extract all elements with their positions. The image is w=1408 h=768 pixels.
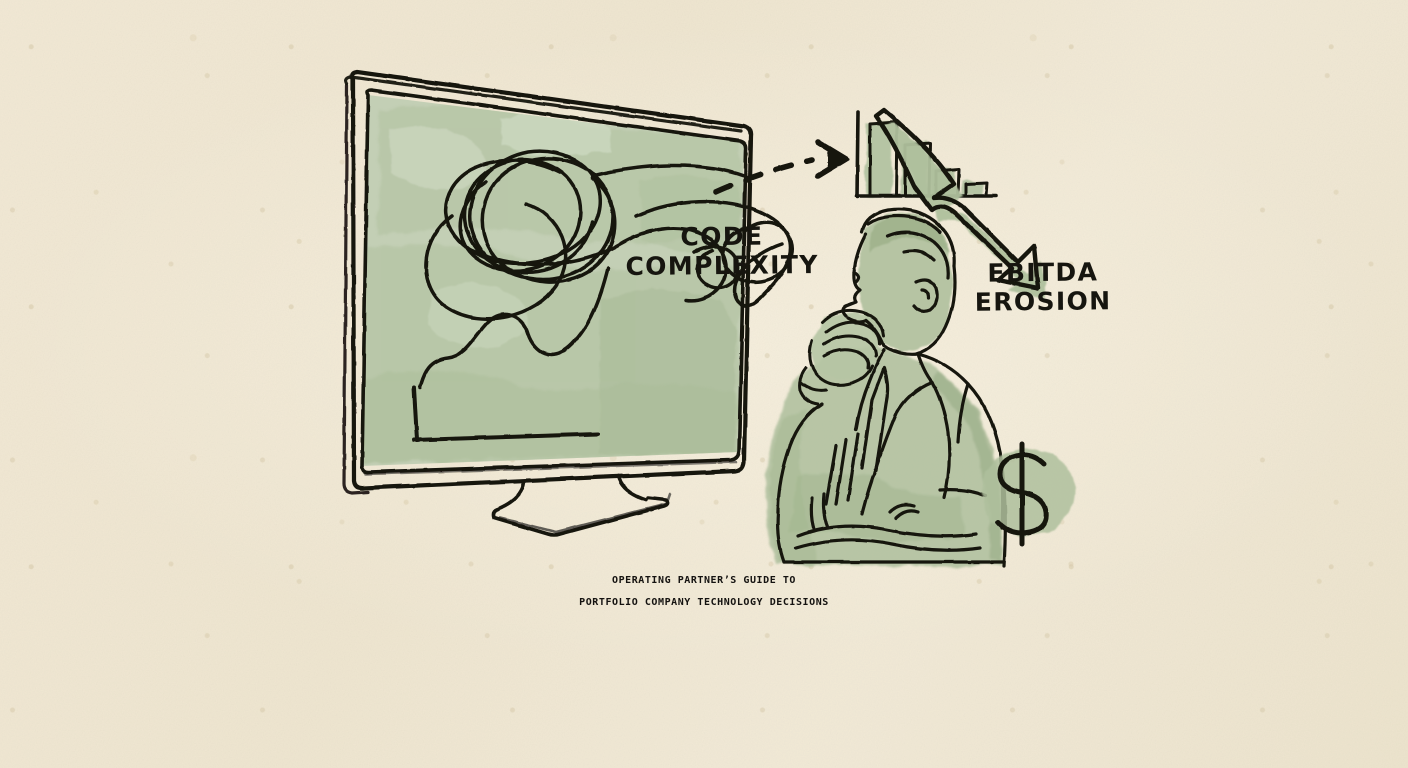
label-ebitda-erosion-line1: EBITDA <box>948 257 1138 288</box>
title-line-1: OPERATING PARTNER’S GUIDE TO <box>0 576 1408 586</box>
label-ebitda-erosion: EBITDA EROSION <box>948 257 1139 317</box>
monitor-stand <box>494 476 671 535</box>
title-line-2: PORTFOLIO COMPANY TECHNOLOGY DECISIONS <box>0 598 1408 608</box>
label-code-complexity-line2: COMPLEXITY <box>614 250 830 281</box>
page-title: OPERATING PARTNER’S GUIDE TO PORTFOLIO C… <box>0 576 1408 608</box>
desktop-monitor <box>344 72 792 493</box>
label-code-complexity: CODE COMPLEXITY <box>614 221 831 281</box>
label-ebitda-erosion-line2: EROSION <box>948 286 1138 317</box>
label-code-complexity-line1: CODE <box>614 221 830 252</box>
hand-drawn-illustration <box>0 0 1408 768</box>
illustration-canvas: CODE COMPLEXITY EBITDA EROSION OPERATING… <box>0 0 1408 768</box>
